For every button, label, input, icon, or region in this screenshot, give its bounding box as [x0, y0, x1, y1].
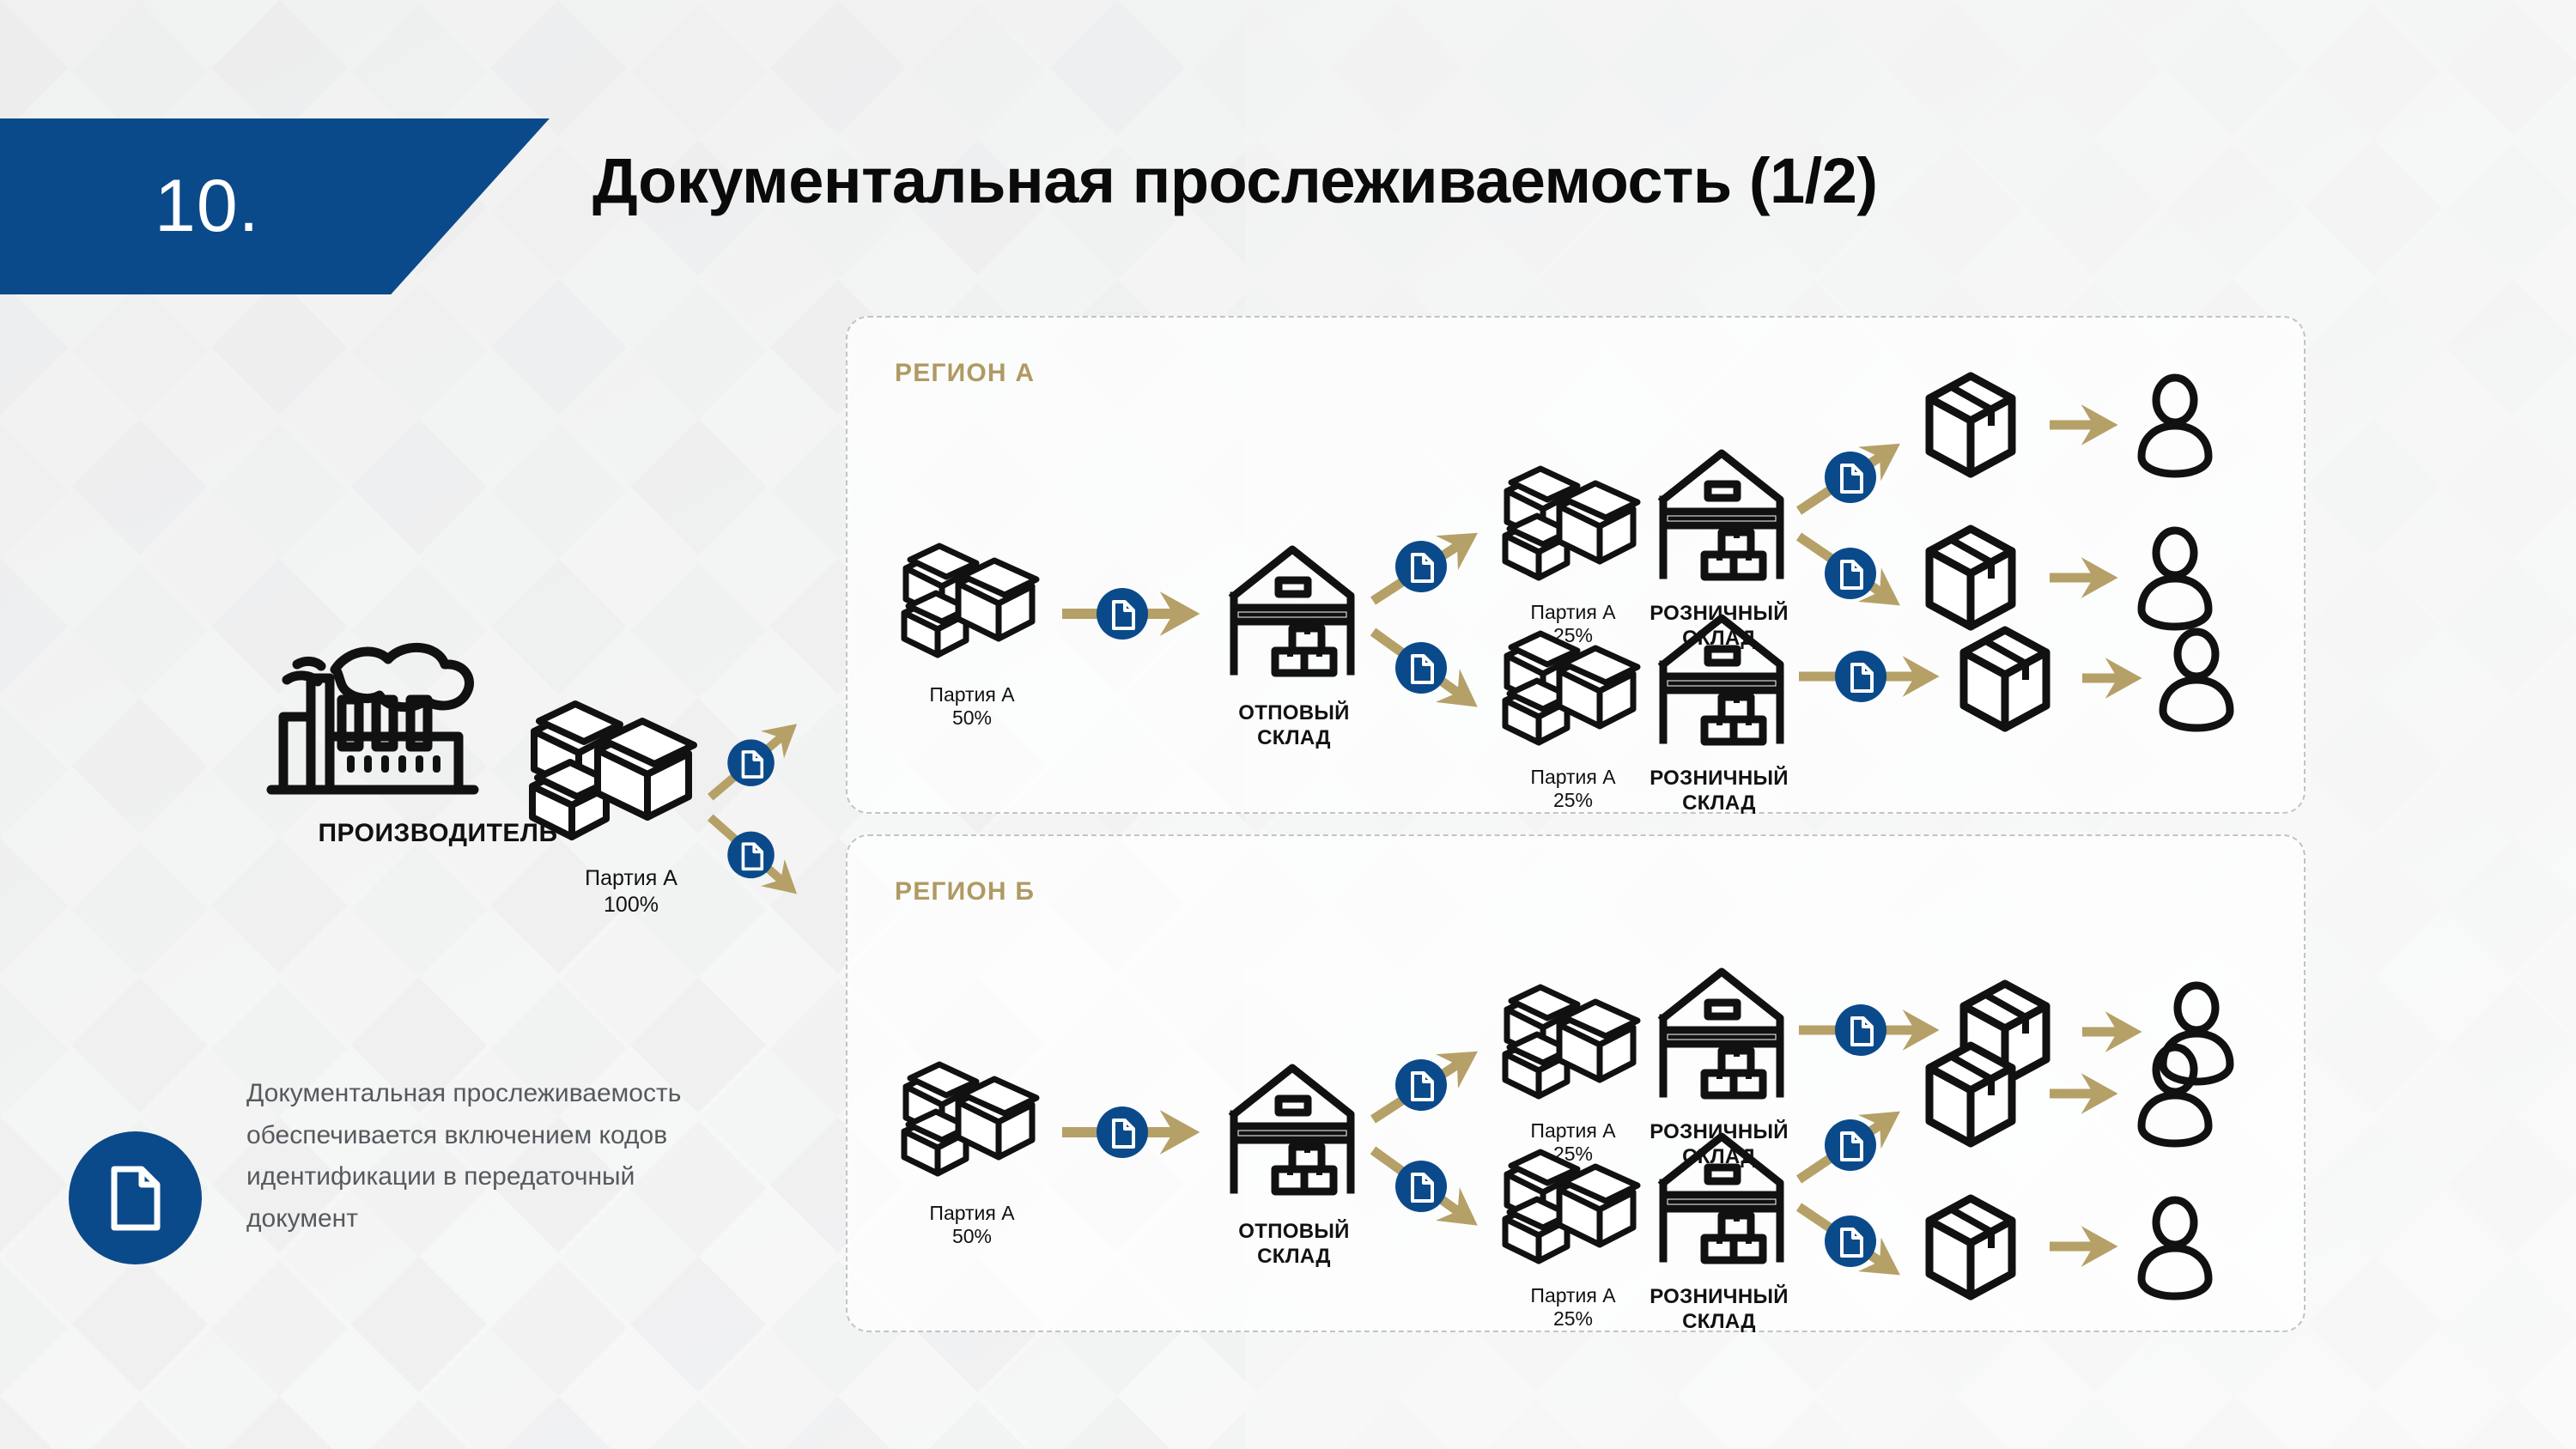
region-b-branch1-lot-caption: Партия А25%	[1492, 1095, 1655, 1167]
region-b-branch2-retail-caption: РОЗНИЧНЫЙСКЛАД	[1637, 1260, 1801, 1334]
document-icon	[69, 1131, 202, 1264]
region-b-inbound-caption: Партия А50%	[890, 1178, 1054, 1249]
factory-icon	[258, 635, 515, 807]
region-b-wholesale-caption: ОТПОВЫЙСКЛАД	[1212, 1195, 1376, 1269]
slide-number: 10.	[155, 164, 260, 249]
region-a-branch2-retail-caption: РОЗНИЧНЫЙСКЛАД	[1637, 742, 1801, 815]
region-panel-b: РЕГИОН Б	[846, 834, 2306, 1332]
slide-number-banner: 10.	[0, 118, 550, 294]
region-a-branch2-lot-caption: Партия А25%	[1492, 742, 1655, 813]
region-b-branch1-retail-caption: РОЗНИЧНЫЙСКЛАД	[1637, 1095, 1801, 1169]
legend: Документальная прослеживаемость обеспечи…	[69, 1073, 824, 1264]
region-b-flow	[848, 836, 2307, 1334]
region-b-branch2-lot-caption: Партия А25%	[1492, 1260, 1655, 1331]
page-title: Документальная прослеживаемость (1/2)	[592, 144, 1878, 217]
document-icon	[727, 832, 775, 879]
boxes-stack-icon	[524, 687, 713, 858]
region-a-wholesale-caption: ОТПОВЫЙСКЛАД	[1212, 676, 1376, 750]
legend-text: Документальная прослеживаемость обеспечи…	[246, 1073, 727, 1240]
region-a-branch1-lot-caption: Партия А25%	[1492, 577, 1655, 648]
region-a-inbound-caption: Партия А50%	[890, 659, 1054, 731]
slide-header: 10. Документальная прослеживаемость (1/2…	[0, 0, 2576, 292]
region-a-branch1-retail-caption: РОЗНИЧНЫЙСКЛАД	[1637, 577, 1801, 651]
document-icon	[727, 739, 775, 786]
region-a-flow	[848, 318, 2307, 815]
region-panel-a: РЕГИОН А	[846, 316, 2306, 814]
